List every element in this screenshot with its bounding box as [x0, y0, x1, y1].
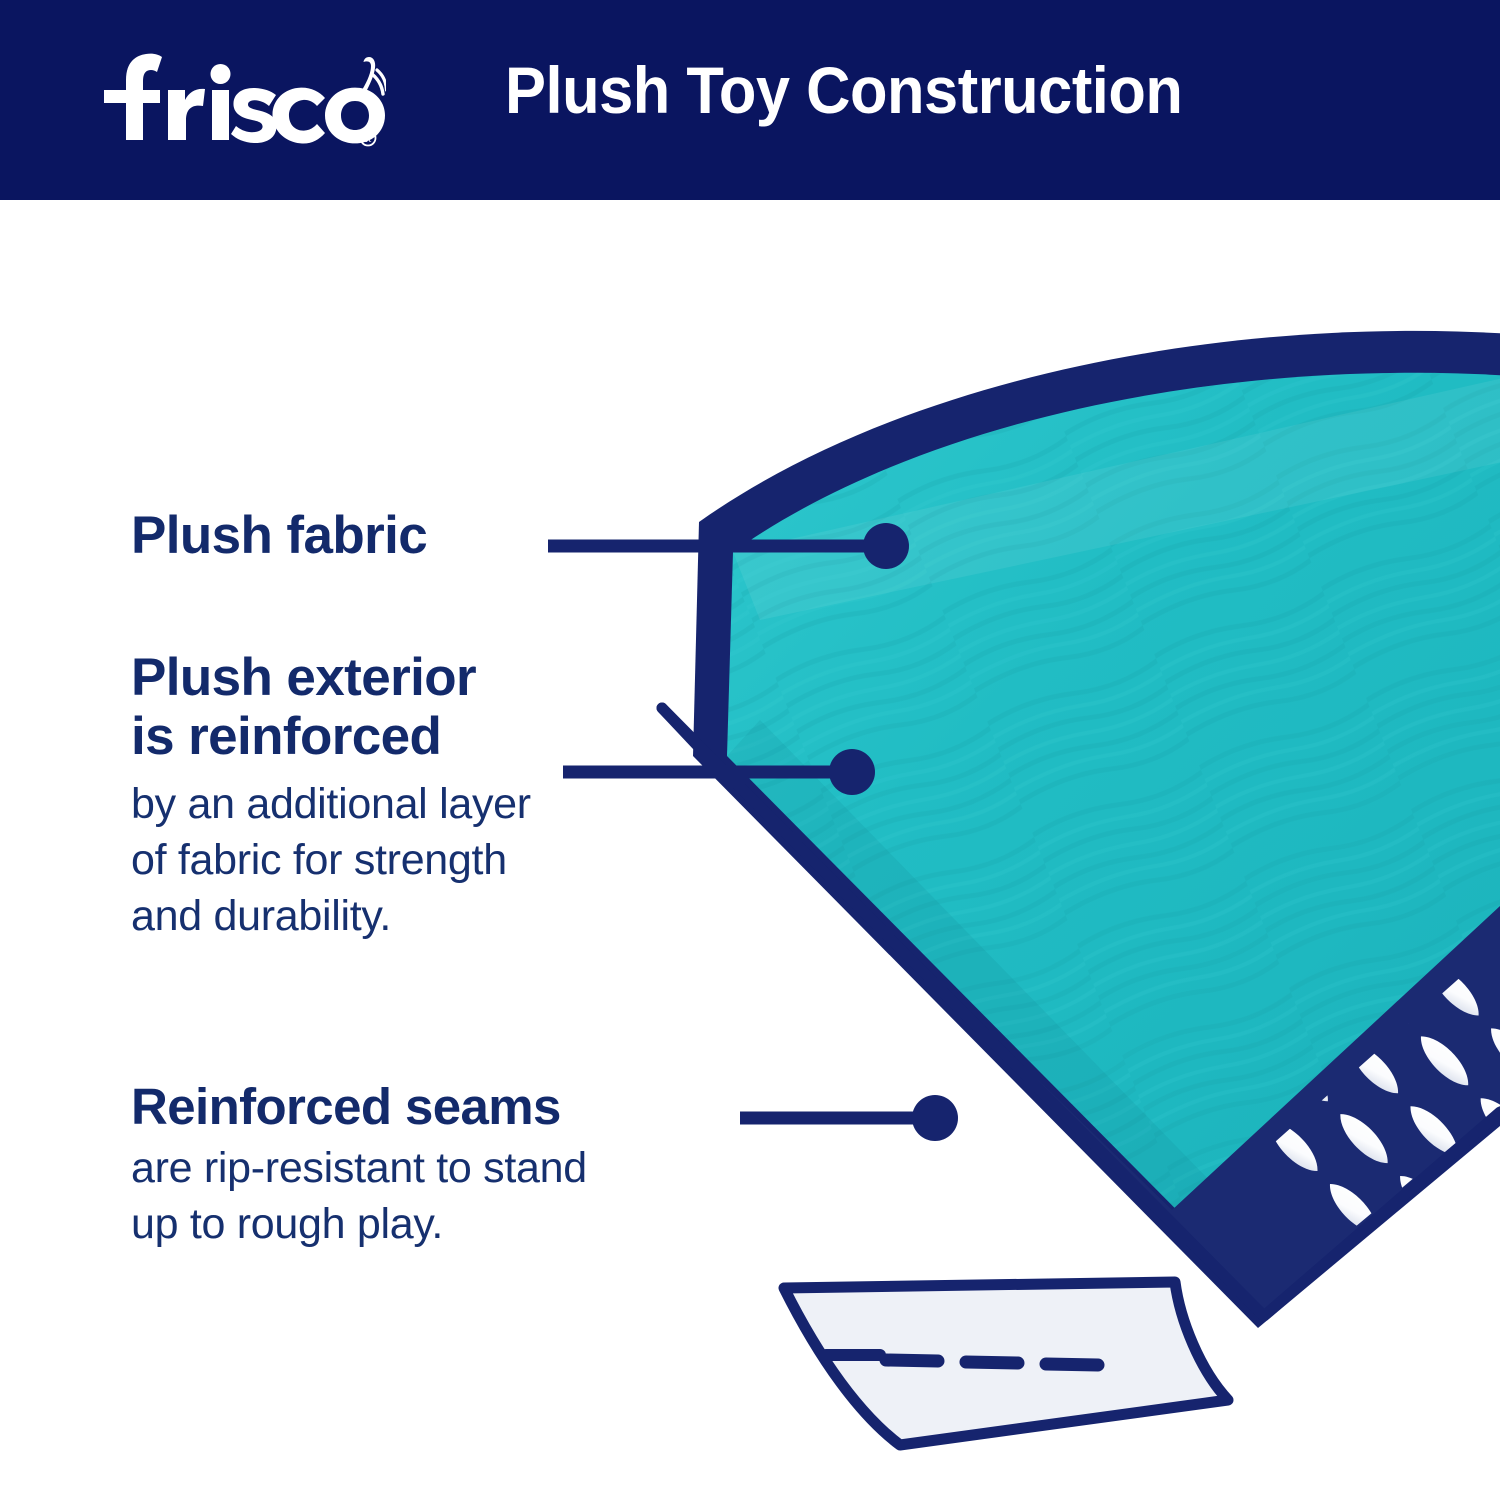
- infographic-page: R Plush Toy Construction: [0, 0, 1500, 1500]
- callout-plush-fabric: Plush fabric: [131, 506, 427, 565]
- callout-plush-exterior: Plush exterior is reinforced by an addit…: [131, 648, 531, 944]
- callout-heading: Reinforced seams: [131, 1078, 587, 1135]
- callout-reinforced-seams: Reinforced seams are rip-resistant to st…: [131, 1078, 587, 1253]
- callout-heading: Plush exterior is reinforced: [131, 648, 531, 767]
- callout-body: by an additional layer of fabric for str…: [131, 777, 531, 945]
- callout-heading: Plush fabric: [131, 506, 427, 565]
- callout-body: are rip-resistant to stand up to rough p…: [131, 1141, 587, 1253]
- callout-list: Plush fabric Plush exterior is reinforce…: [0, 0, 1500, 1500]
